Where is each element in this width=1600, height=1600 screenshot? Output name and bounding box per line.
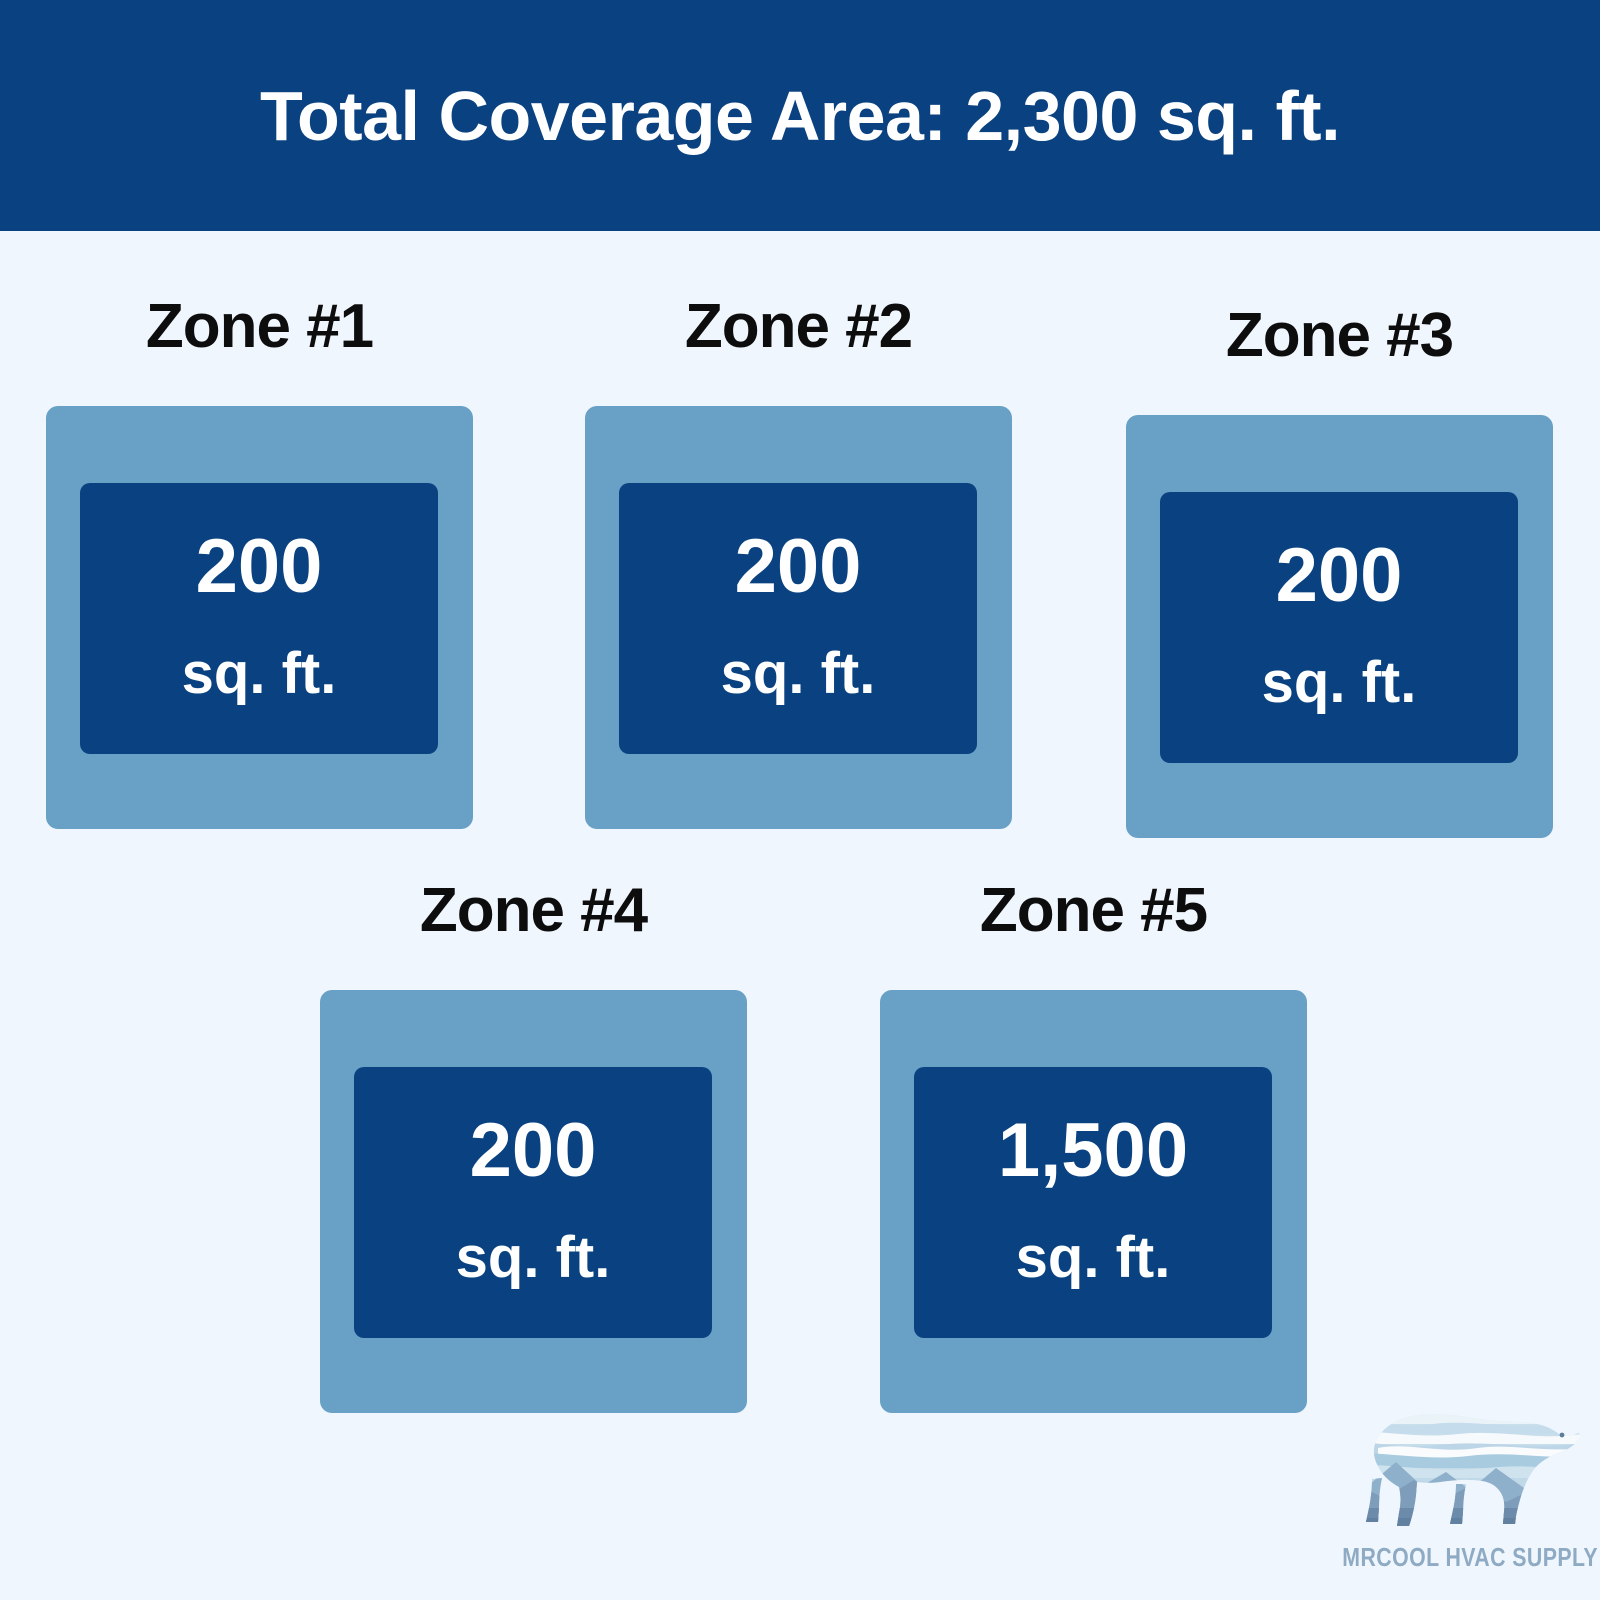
zone-unit-5: sq. ft. <box>1016 1229 1171 1287</box>
zone-value-3: 200 <box>1276 538 1403 614</box>
zone-inner-area-3: 200 sq. ft. <box>1160 492 1518 763</box>
zone-inner-area-4: 200 sq. ft. <box>354 1067 712 1338</box>
zone-outer-area-2: 200 sq. ft. <box>585 406 1012 829</box>
zone-outer-area-5: 1,500 sq. ft. <box>880 990 1307 1413</box>
zone-label-4: Zone #4 <box>320 880 747 942</box>
polar-bear-icon <box>1318 1392 1588 1542</box>
zone-unit-4: sq. ft. <box>456 1229 611 1287</box>
zone-label-5: Zone #5 <box>880 880 1307 942</box>
zone-outer-area-4: 200 sq. ft. <box>320 990 747 1413</box>
zone-card-2: Zone #2 200 sq. ft. <box>585 296 1012 829</box>
zone-card-4: Zone #4 200 sq. ft. <box>320 880 747 1413</box>
brand-logo: MRCOOL HVAC SUPPLY <box>1318 1392 1588 1582</box>
zone-inner-area-2: 200 sq. ft. <box>619 483 977 754</box>
zone-label-3: Zone #3 <box>1126 305 1553 367</box>
header-bar: Total Coverage Area: 2,300 sq. ft. <box>0 0 1600 231</box>
zone-inner-area-1: 200 sq. ft. <box>80 483 438 754</box>
bear-eye-icon <box>1560 1433 1565 1438</box>
zone-label-1: Zone #1 <box>46 296 473 358</box>
zone-card-5: Zone #5 1,500 sq. ft. <box>880 880 1307 1413</box>
zone-value-2: 200 <box>735 529 862 605</box>
zone-inner-area-5: 1,500 sq. ft. <box>914 1067 1272 1338</box>
zone-card-3: Zone #3 200 sq. ft. <box>1126 305 1553 838</box>
zone-outer-area-3: 200 sq. ft. <box>1126 415 1553 838</box>
page-title: Total Coverage Area: 2,300 sq. ft. <box>260 81 1340 151</box>
zone-unit-3: sq. ft. <box>1262 654 1417 712</box>
zone-value-1: 200 <box>196 529 323 605</box>
zone-outer-area-1: 200 sq. ft. <box>46 406 473 829</box>
brand-name: MRCOOL HVAC SUPPLY <box>1342 1542 1563 1573</box>
zone-unit-2: sq. ft. <box>721 645 876 703</box>
zone-value-5: 1,500 <box>998 1113 1188 1189</box>
zone-unit-1: sq. ft. <box>182 645 337 703</box>
zone-card-1: Zone #1 200 sq. ft. <box>46 296 473 829</box>
zone-value-4: 200 <box>470 1113 597 1189</box>
zone-label-2: Zone #2 <box>585 296 1012 358</box>
